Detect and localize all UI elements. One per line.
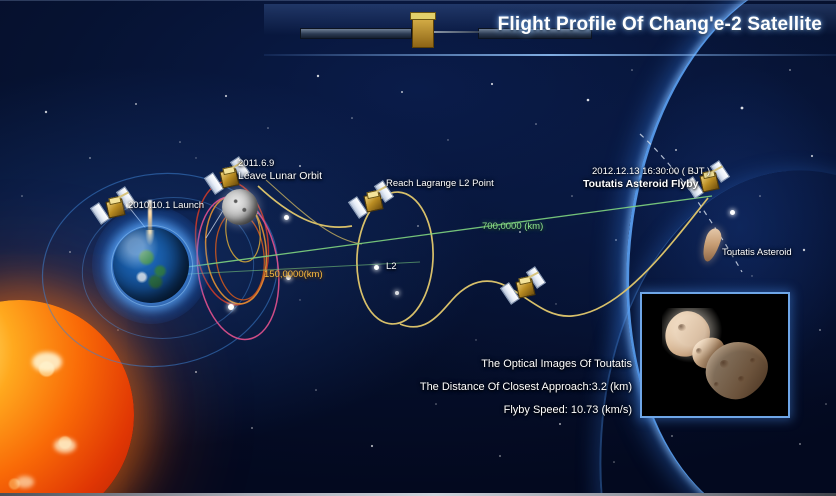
path-moon-to-l2 — [258, 186, 352, 227]
diagram-canvas: Flight Profile Of Chang'e-2 Satellite 20… — [0, 0, 836, 496]
label-asteroid-name: Toutatis Asteroid — [722, 247, 792, 258]
info-line-flyby-speed: Flyby Speed: 10.73 (km/s) — [504, 404, 632, 416]
waypoint-dot-transfer — [284, 215, 289, 220]
label-l2-point: L2 — [386, 261, 397, 272]
label-leave-lunar-date: 2011.6.9 — [238, 158, 274, 169]
label-launch: 2010.10.1 Launch — [128, 200, 204, 211]
rocket-plume — [145, 230, 155, 246]
label-flyby-datetime: 2012.12.13 16:30:00 ( BJT ) — [592, 166, 710, 177]
waypoint-dot-l2 — [374, 265, 379, 270]
info-line-optical-images: The Optical Images Of Toutatis — [481, 358, 632, 370]
waypoint-dot-lunar-perigee — [228, 304, 234, 310]
asteroid-photo-inset — [640, 292, 790, 418]
label-distance-earth-l2: 150,0000(km) — [264, 269, 323, 280]
label-distance-l2-asteroid: 700,0000 (km) — [482, 221, 543, 232]
satellite-in-cruise — [504, 268, 544, 308]
info-line-closest-approach: The Distance Of Closest Approach:3.2 (km… — [420, 381, 632, 393]
label-reach-lagrange: Reach Lagrange L2 Point — [386, 178, 494, 189]
label-flyby-title: Toutatis Asteroid Flyby — [583, 178, 699, 190]
asteroid-photo-image — [662, 308, 770, 402]
page-title: Flight Profile Of Chang'e-2 Satellite — [498, 14, 822, 36]
path-secondary-strand — [266, 180, 362, 244]
waypoint-dot-asteroid-track — [730, 210, 735, 215]
waypoint-dot-halo — [395, 291, 399, 295]
label-leave-lunar-orbit: Leave Lunar Orbit — [238, 170, 322, 182]
frame-top-edge — [0, 0, 836, 1]
